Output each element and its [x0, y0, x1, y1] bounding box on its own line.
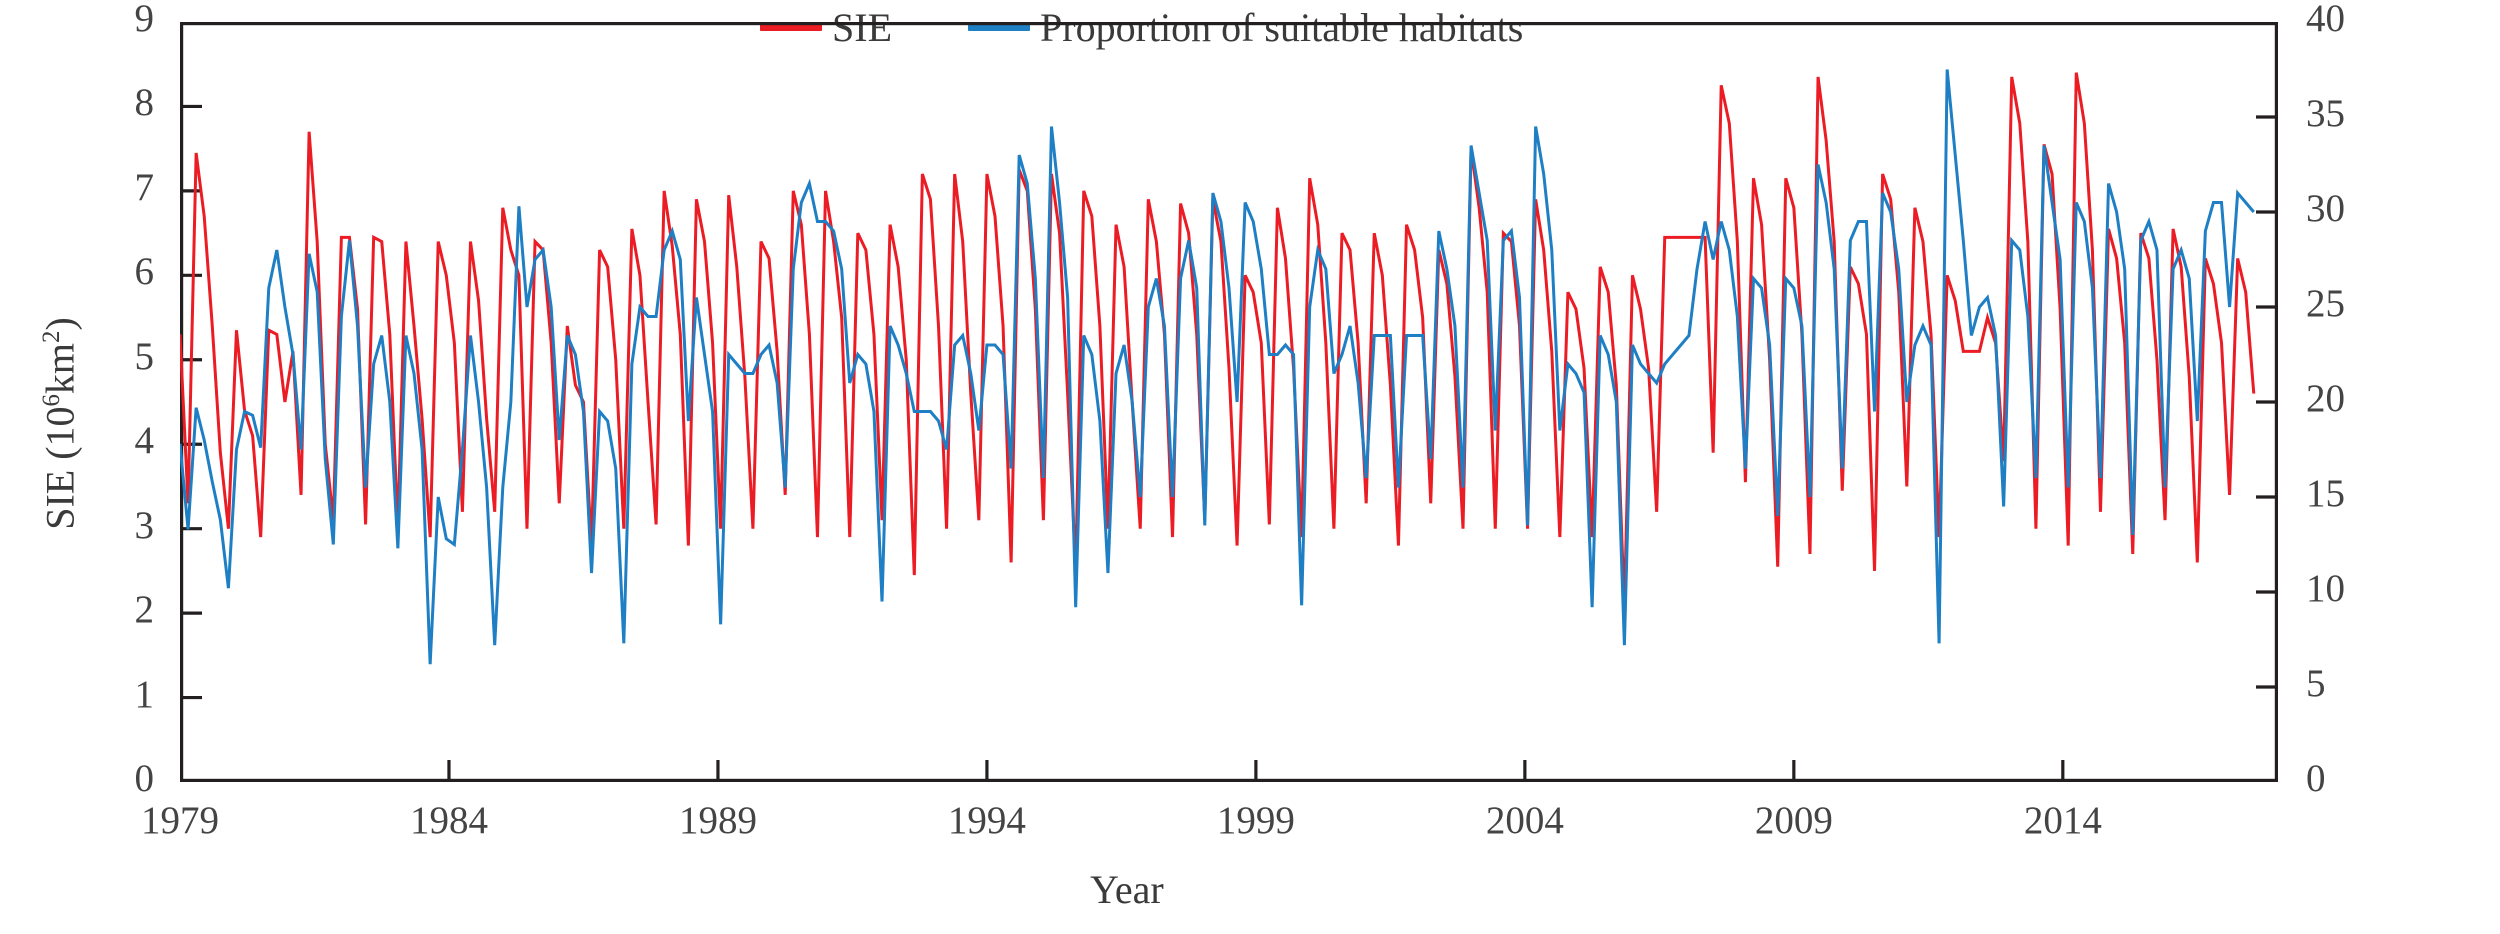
y-axis-right-tick-label: 0 [2306, 756, 2366, 801]
y-axis-right-tick-label: 15 [2306, 471, 2366, 516]
y-axis-left-tick-label: 9 [94, 0, 154, 41]
y-axis-left-tick-label: 1 [94, 672, 154, 717]
x-axis-tick-label: 1999 [1176, 798, 1336, 843]
y-axis-right-tick-label: 5 [2306, 661, 2366, 706]
plot-area [180, 22, 2278, 782]
x-axis-title: Year [1090, 866, 1164, 913]
y-axis-left-tick-label: 0 [94, 756, 154, 801]
y-axis-left-tick-label: 7 [94, 165, 154, 210]
y-axis-left-title: SIE (106km2) [37, 214, 84, 634]
y-axis-right-tick-label: 30 [2306, 186, 2366, 231]
y-axis-left-tick-label: 6 [94, 249, 154, 294]
y-axis-right-tick-label: 25 [2306, 281, 2366, 326]
plot-frame [182, 24, 2277, 781]
chart-figure: SIE Proportion of suitable habitats SIE … [0, 0, 2500, 934]
x-axis-tick-label: 1984 [369, 798, 529, 843]
y-axis-left-tick-label: 4 [94, 418, 154, 463]
y-axis-right-tick-label: 10 [2306, 566, 2366, 611]
y-axis-left-tick-label: 2 [94, 587, 154, 632]
y-axis-left-tick-label: 3 [94, 503, 154, 548]
y-axis-right-tick-label: 35 [2306, 91, 2366, 136]
y-axis-right-tick-label: 40 [2306, 0, 2366, 41]
series-line-proportion [180, 70, 2254, 665]
y-axis-left-tick-label: 8 [94, 80, 154, 125]
x-axis-tick-label: 2014 [1983, 798, 2143, 843]
y-axis-right-tick-label: 20 [2306, 376, 2366, 421]
x-axis-tick-label: 2004 [1445, 798, 1605, 843]
x-axis-tick-label: 1994 [907, 798, 1067, 843]
x-axis-tick-label: 2009 [1714, 798, 1874, 843]
chart-svg [180, 22, 2278, 782]
y-axis-left-tick-label: 5 [94, 334, 154, 379]
x-axis-tick-label: 1989 [638, 798, 798, 843]
x-axis-tick-label: 1979 [100, 798, 260, 843]
